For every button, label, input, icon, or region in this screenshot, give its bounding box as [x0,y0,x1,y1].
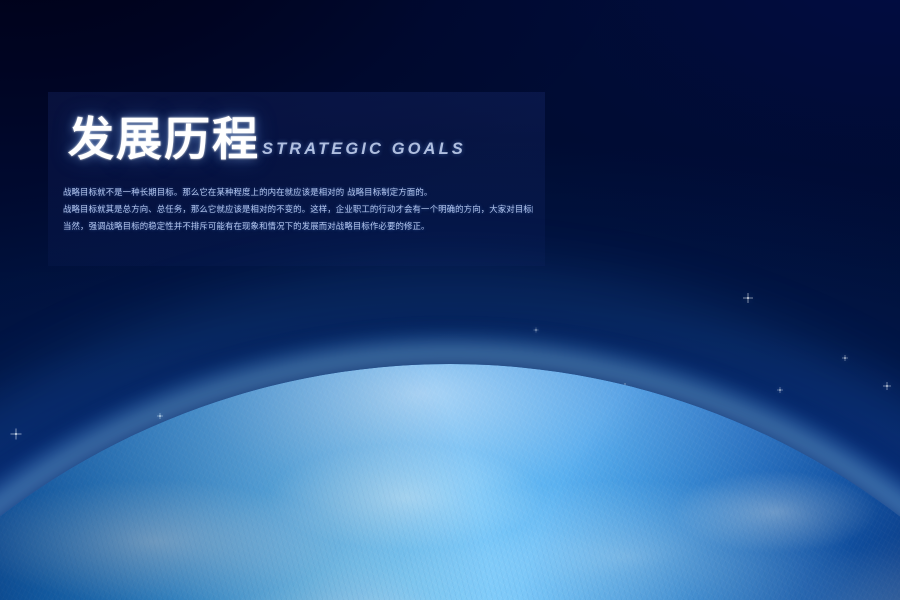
body-line: 战略目标就不是一种长期目标。那么它在某种程度上的内在就应该是相对的 战略目标制定… [63,186,533,199]
banner-stage: 发展历程 STRATEGIC GOALS 战略目标就不是一种长期目标。那么它在某… [0,0,900,600]
body-line: 当然，强调战略目标的稳定性并不排斥可能有在现象和情况下的发展而对战略目标作必要的… [63,220,533,233]
page-subtitle-english: STRATEGIC GOALS [262,140,466,162]
body-line: 战略目标就其是总方向、总任务，那么它就应该是相对的不变的。这样，企业职工的行动才… [63,203,533,216]
page-title-chinese: 发展历程 [68,116,260,162]
page-title: 发展历程 STRATEGIC GOALS [68,116,466,162]
body-copy: 战略目标就不是一种长期目标。那么它在某种程度上的内在就应该是相对的 战略目标制定… [63,186,533,237]
